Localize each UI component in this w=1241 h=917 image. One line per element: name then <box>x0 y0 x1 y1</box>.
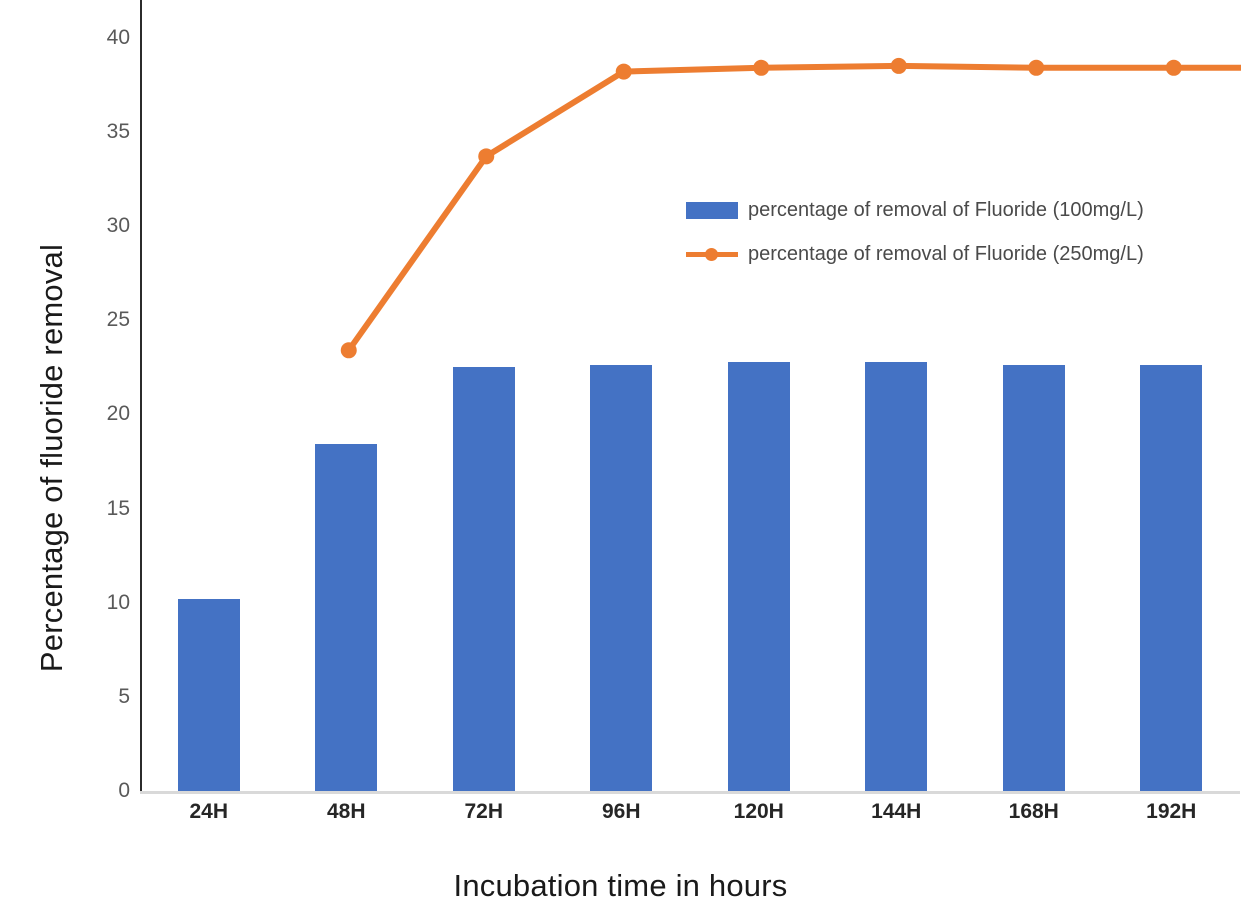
x-tick-label: 96H <box>602 800 641 824</box>
chart-legend: percentage of removal of Fluoride (100mg… <box>686 188 1216 276</box>
y-tick-label: 30 <box>82 214 130 238</box>
bar <box>865 362 927 791</box>
legend-label-100mg: percentage of removal of Fluoride (100mg… <box>748 199 1144 222</box>
x-tick-label: 144H <box>871 800 921 824</box>
line-data-point <box>341 342 357 358</box>
bar <box>178 599 240 791</box>
y-tick-label: 40 <box>82 26 130 50</box>
bar <box>453 367 515 791</box>
y-tick-label: 15 <box>82 497 130 521</box>
x-tick-label: 168H <box>1009 800 1059 824</box>
line-data-point <box>1028 60 1044 76</box>
y-tick-label: 5 <box>82 685 130 709</box>
x-tick-label: 192H <box>1146 800 1196 824</box>
y-axis-title: Percentage of fluoride removal <box>34 148 70 768</box>
legend-item-250mg: percentage of removal of Fluoride (250mg… <box>686 232 1216 276</box>
x-tick-label: 48H <box>327 800 366 824</box>
legend-label-250mg: percentage of removal of Fluoride (250mg… <box>748 243 1144 266</box>
plot-area <box>140 0 1240 791</box>
legend-line-marker-swatch-icon <box>686 246 738 263</box>
line-data-point <box>478 148 494 164</box>
y-tick-label: 35 <box>82 120 130 144</box>
line-data-point <box>1166 60 1182 76</box>
line-data-point <box>891 58 907 74</box>
x-tick-label: 72H <box>464 800 503 824</box>
line-data-point <box>753 60 769 76</box>
y-tick-label: 20 <box>82 402 130 426</box>
x-tick-label: 120H <box>734 800 784 824</box>
chart-figure: Percentage of fluoride removal Incubatio… <box>0 0 1241 917</box>
bar <box>1003 365 1065 791</box>
x-tick-label: 24H <box>189 800 228 824</box>
legend-bar-swatch-icon <box>686 202 738 219</box>
x-axis-title: Incubation time in hours <box>0 868 1241 904</box>
line-data-point <box>616 64 632 80</box>
y-tick-label: 0 <box>82 779 130 803</box>
y-axis-tick-labels: 0510152025303540 <box>78 0 130 791</box>
bar <box>315 444 377 791</box>
y-tick-label: 10 <box>82 591 130 615</box>
y-tick-label: 25 <box>82 308 130 332</box>
bar <box>1140 365 1202 791</box>
x-axis-line <box>140 791 1240 794</box>
bar <box>590 365 652 791</box>
legend-item-100mg: percentage of removal of Fluoride (100mg… <box>686 188 1216 232</box>
bar <box>728 362 790 791</box>
